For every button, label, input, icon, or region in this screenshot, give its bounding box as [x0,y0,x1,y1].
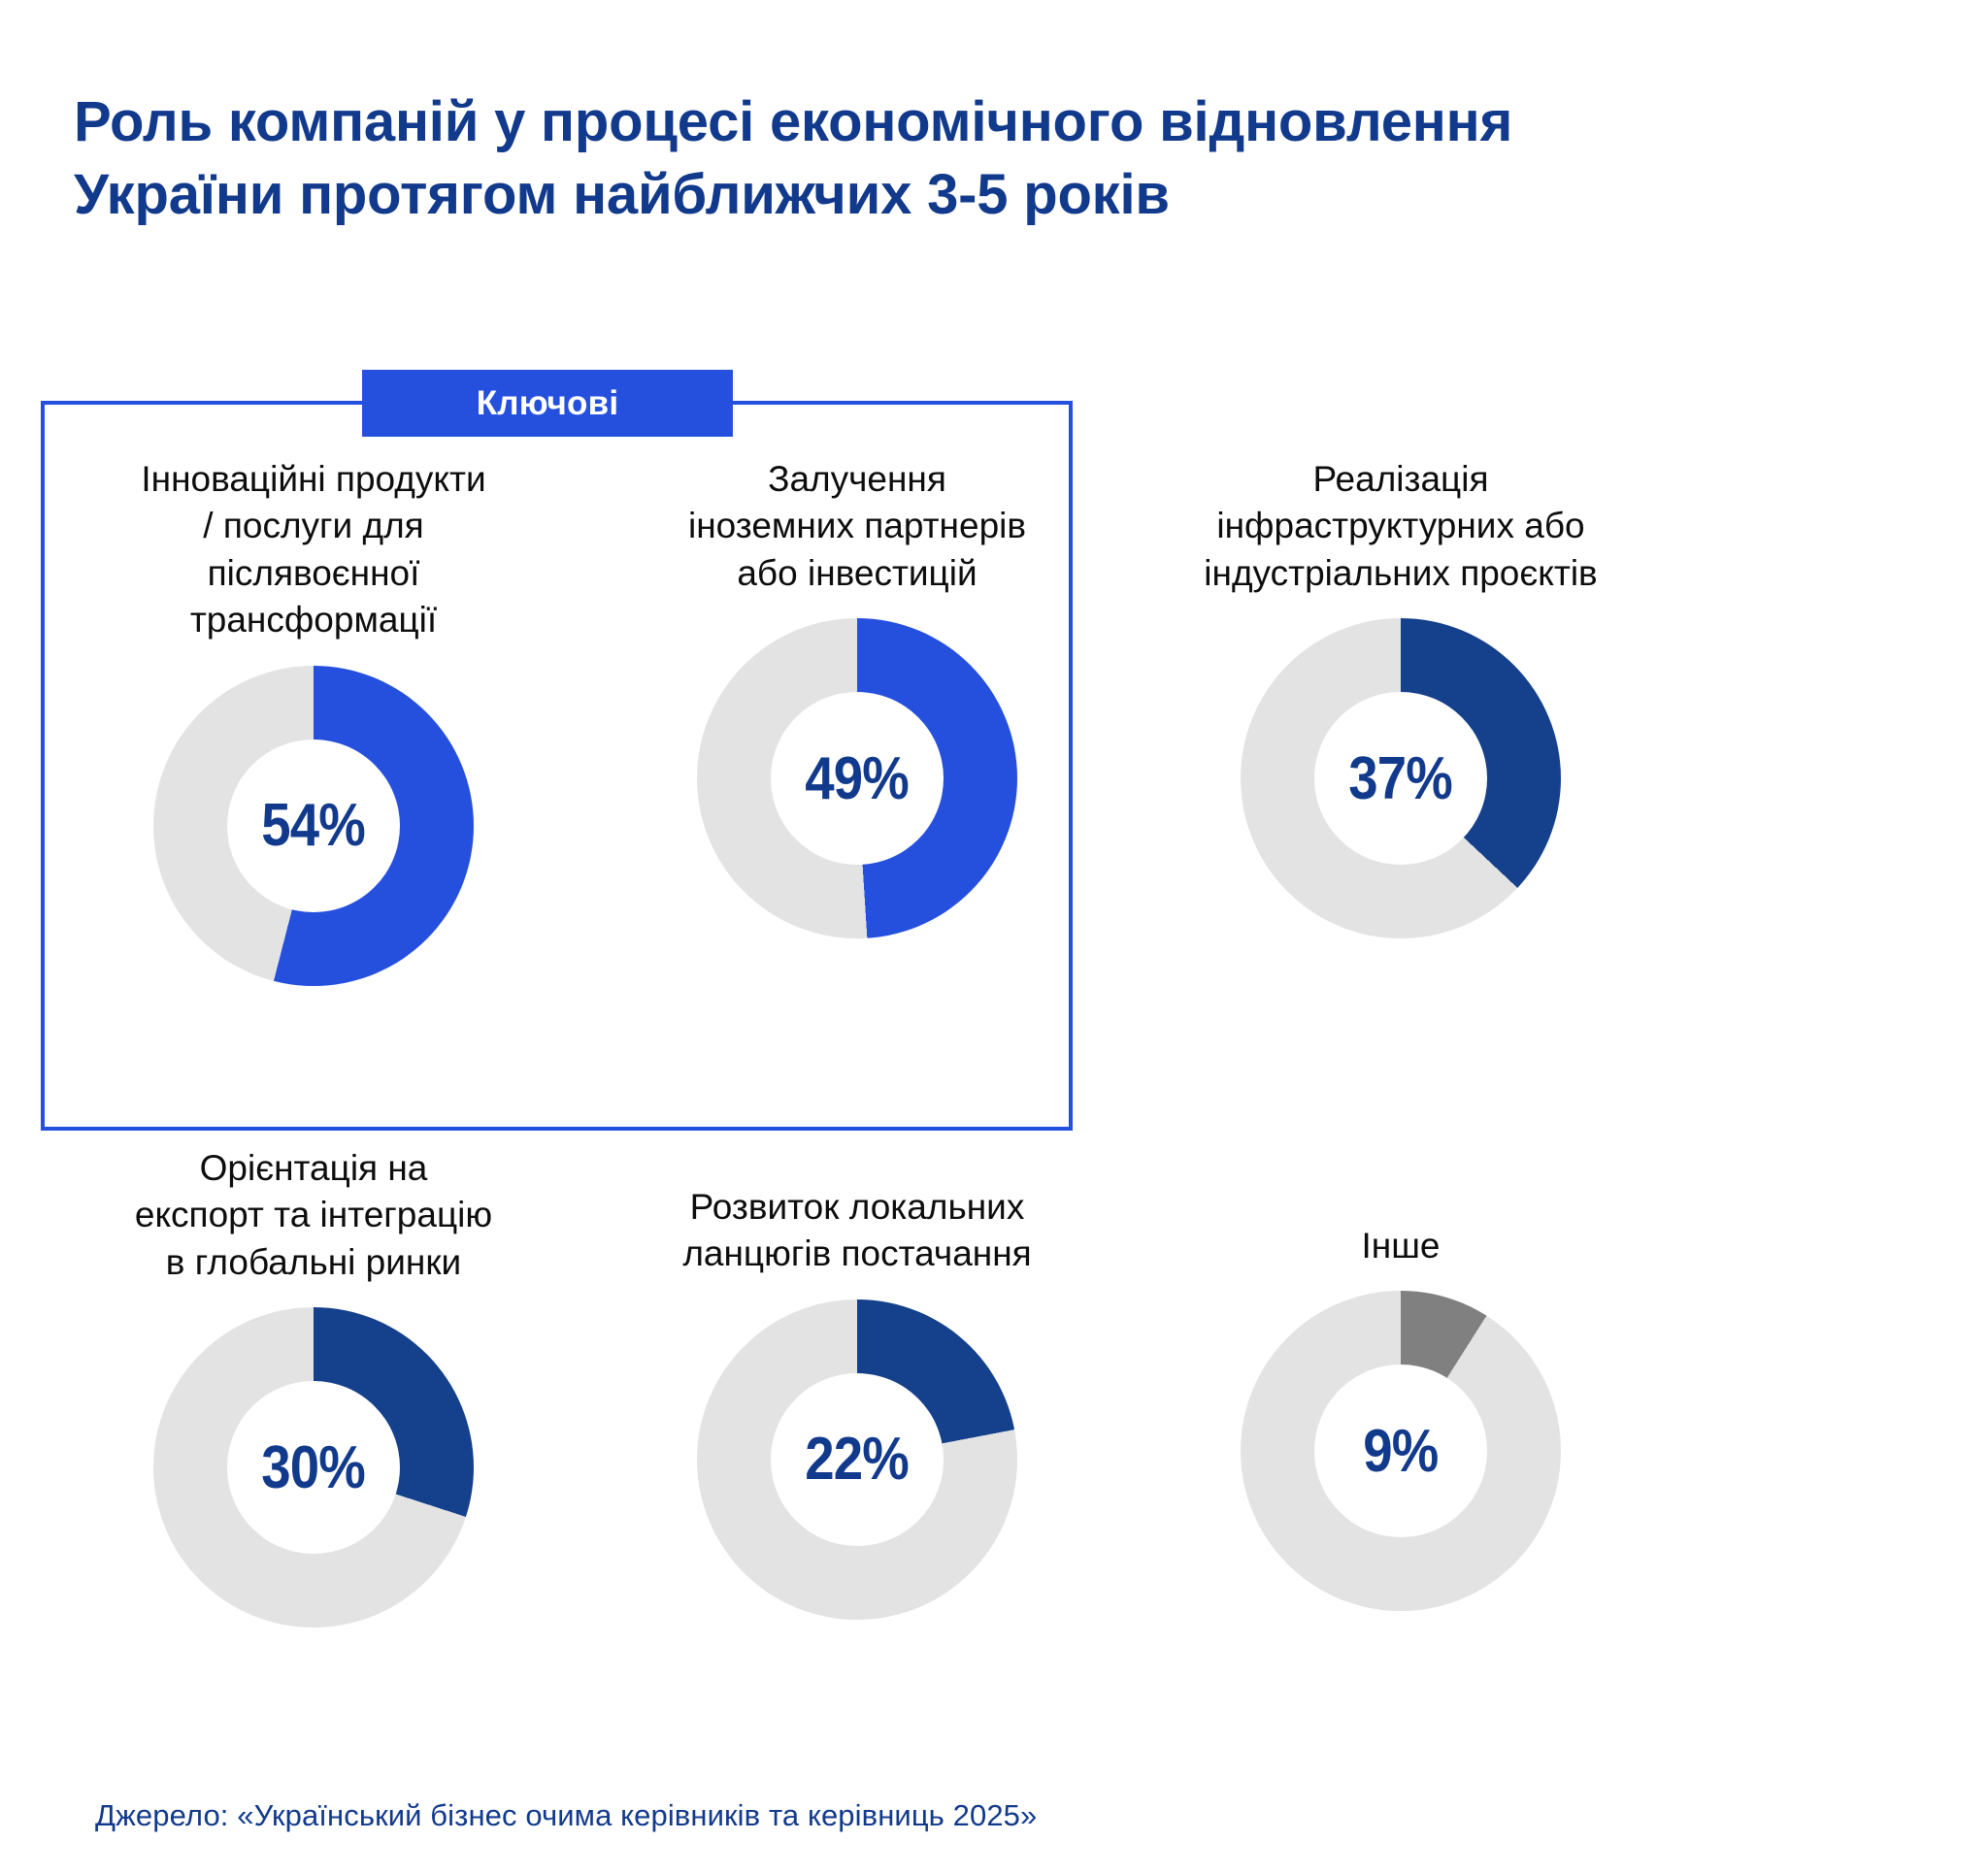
donut-label-export-global-markets: Орієнтація на експорт та інтеграцію в гл… [61,1145,566,1286]
donut-cell-infrastructure-projects: Реалізація інфраструктурних або індустрі… [1129,456,1673,1145]
infographic-page: Роль компаній у процесі економічного від… [0,0,1988,1874]
donut-label-local-supply-chains: Розвиток локальних ланцюгів постачання [605,1145,1110,1278]
donut-row-top: Інноваційні продукти / послуги для після… [0,456,1988,1145]
donut-label-foreign-partners: Залучення іноземних партнерів або інвест… [629,456,1085,597]
donut-hole: 37% [1314,692,1487,865]
donut-cell-export-global-markets: Орієнтація на експорт та інтеграцію в гл… [42,1145,585,1825]
donut-chart-export-global-markets: 30% [153,1307,474,1627]
donut-value-infrastructure-projects: 37% [1349,744,1453,813]
donut-hole: 22% [771,1373,944,1546]
donut-value-innovative-products: 54% [262,791,366,860]
donut-hole: 49% [771,692,944,865]
donut-value-export-global-markets: 30% [262,1433,366,1502]
donut-label-innovative-products: Інноваційні продукти / послуги для після… [85,456,542,644]
key-badge-label: Ключові [477,384,619,423]
donut-hole: 54% [227,740,400,912]
donut-chart-local-supply-chains: 22% [697,1299,1017,1620]
donut-hole: 30% [227,1381,400,1554]
donut-value-foreign-partners: 49% [806,744,910,813]
donut-label-other: Інше [1173,1145,1629,1269]
donut-chart-foreign-partners: 49% [697,618,1017,938]
donut-cell-innovative-products: Інноваційні продукти / послуги для після… [42,456,585,1145]
source-note: Джерело: «Український бізнес очима керів… [95,1798,1037,1833]
donut-hole: 9% [1314,1364,1487,1537]
donut-cell-foreign-partners: Залучення іноземних партнерів або інвест… [585,456,1129,1145]
donut-grid: Інноваційні продукти / послуги для після… [0,456,1988,1825]
donut-value-local-supply-chains: 22% [806,1425,910,1494]
donut-cell-local-supply-chains: Розвиток локальних ланцюгів постачання 2… [585,1145,1129,1825]
donut-cell-other: Інше 9% [1129,1145,1673,1825]
page-title: Роль компаній у процесі економічного від… [74,85,1899,232]
donut-chart-other: 9% [1241,1291,1561,1611]
donut-chart-innovative-products: 54% [153,666,474,986]
donut-row-bottom: Орієнтація на експорт та інтеграцію в гл… [0,1145,1988,1825]
donut-label-infrastructure-projects: Реалізація інфраструктурних або індустрі… [1148,456,1653,597]
donut-value-other: 9% [1363,1417,1438,1486]
key-badge: Ключові [362,370,733,437]
donut-chart-infrastructure-projects: 37% [1241,618,1561,938]
